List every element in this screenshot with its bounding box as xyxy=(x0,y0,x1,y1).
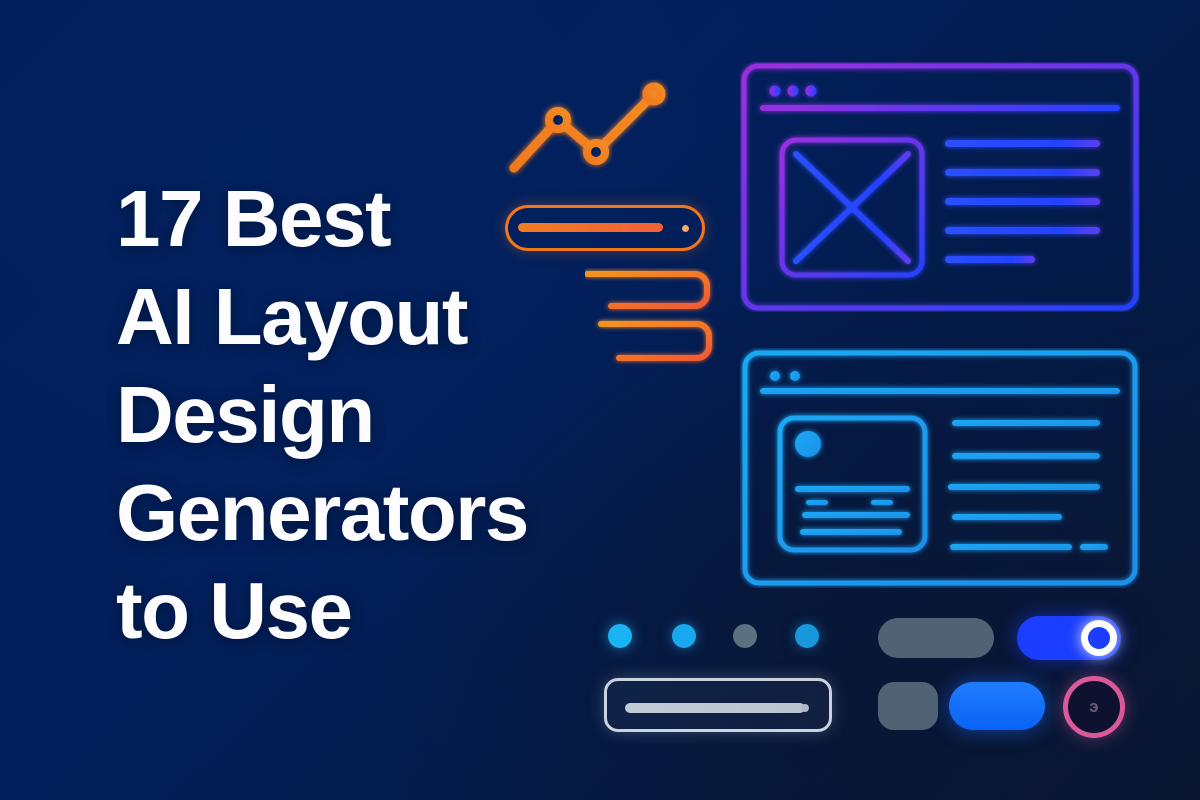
pagination-dot-2[interactable] xyxy=(672,624,696,648)
pill-button-gray[interactable] xyxy=(878,618,994,658)
text-line xyxy=(945,169,1100,176)
toggle-switch[interactable] xyxy=(1017,616,1121,660)
card-text-line xyxy=(806,500,828,505)
orange-stacked-list xyxy=(585,268,720,373)
search-input-dot-icon xyxy=(801,704,809,712)
card-text-line xyxy=(795,486,910,492)
search-input-fill xyxy=(625,703,805,713)
traffic-light-1 xyxy=(770,371,780,381)
window-text-lines xyxy=(948,420,1108,550)
window-text-lines xyxy=(945,140,1100,263)
card-text-line xyxy=(800,529,902,535)
url-bar xyxy=(760,388,1120,394)
traffic-light-2 xyxy=(788,86,799,97)
orange-search-bar-fill xyxy=(518,223,663,232)
url-bar xyxy=(760,105,1120,111)
pagination-dot-3[interactable] xyxy=(733,624,757,648)
text-line xyxy=(1080,544,1108,550)
traffic-lights xyxy=(770,371,800,381)
traffic-light-1 xyxy=(770,86,781,97)
orange-search-bar-dot-icon xyxy=(682,225,689,232)
text-line xyxy=(945,256,1035,263)
text-line xyxy=(948,484,1100,490)
card-text-line xyxy=(802,512,910,518)
pill-button-blue[interactable] xyxy=(949,682,1045,730)
card-text-line xyxy=(871,500,893,505)
orange-search-bar[interactable] xyxy=(505,205,705,251)
text-line xyxy=(945,227,1100,234)
headline-line-4: Generators xyxy=(116,464,716,562)
text-line xyxy=(952,514,1062,520)
text-line xyxy=(950,544,1072,550)
text-line xyxy=(952,453,1100,459)
traffic-lights xyxy=(770,86,817,97)
traffic-light-3 xyxy=(806,86,817,97)
placeholder-cross-icon xyxy=(796,154,908,261)
browser-window-blue[interactable] xyxy=(740,348,1140,588)
pagination-dot-4[interactable] xyxy=(795,624,819,648)
search-input-widget[interactable] xyxy=(604,678,832,732)
traffic-light-2 xyxy=(790,371,800,381)
line-chart-icon xyxy=(500,72,690,182)
headline-line-3: Design xyxy=(116,366,716,464)
toggle-knob xyxy=(1081,620,1117,656)
poster-canvas: 17 Best AI Layout Design Generators to U… xyxy=(0,0,1200,800)
text-line xyxy=(945,140,1100,147)
text-line xyxy=(945,198,1100,205)
browser-window-purple-blue[interactable] xyxy=(740,62,1140,312)
circular-badge-pink[interactable]: э xyxy=(1063,676,1125,738)
text-line xyxy=(952,420,1100,426)
avatar-circle xyxy=(795,431,821,457)
profile-card xyxy=(780,418,925,550)
pagination-dot-1[interactable] xyxy=(608,624,632,648)
rounded-square-button[interactable] xyxy=(878,682,938,730)
circular-badge-glyph: э xyxy=(1089,697,1098,717)
window-frame xyxy=(744,66,1136,308)
